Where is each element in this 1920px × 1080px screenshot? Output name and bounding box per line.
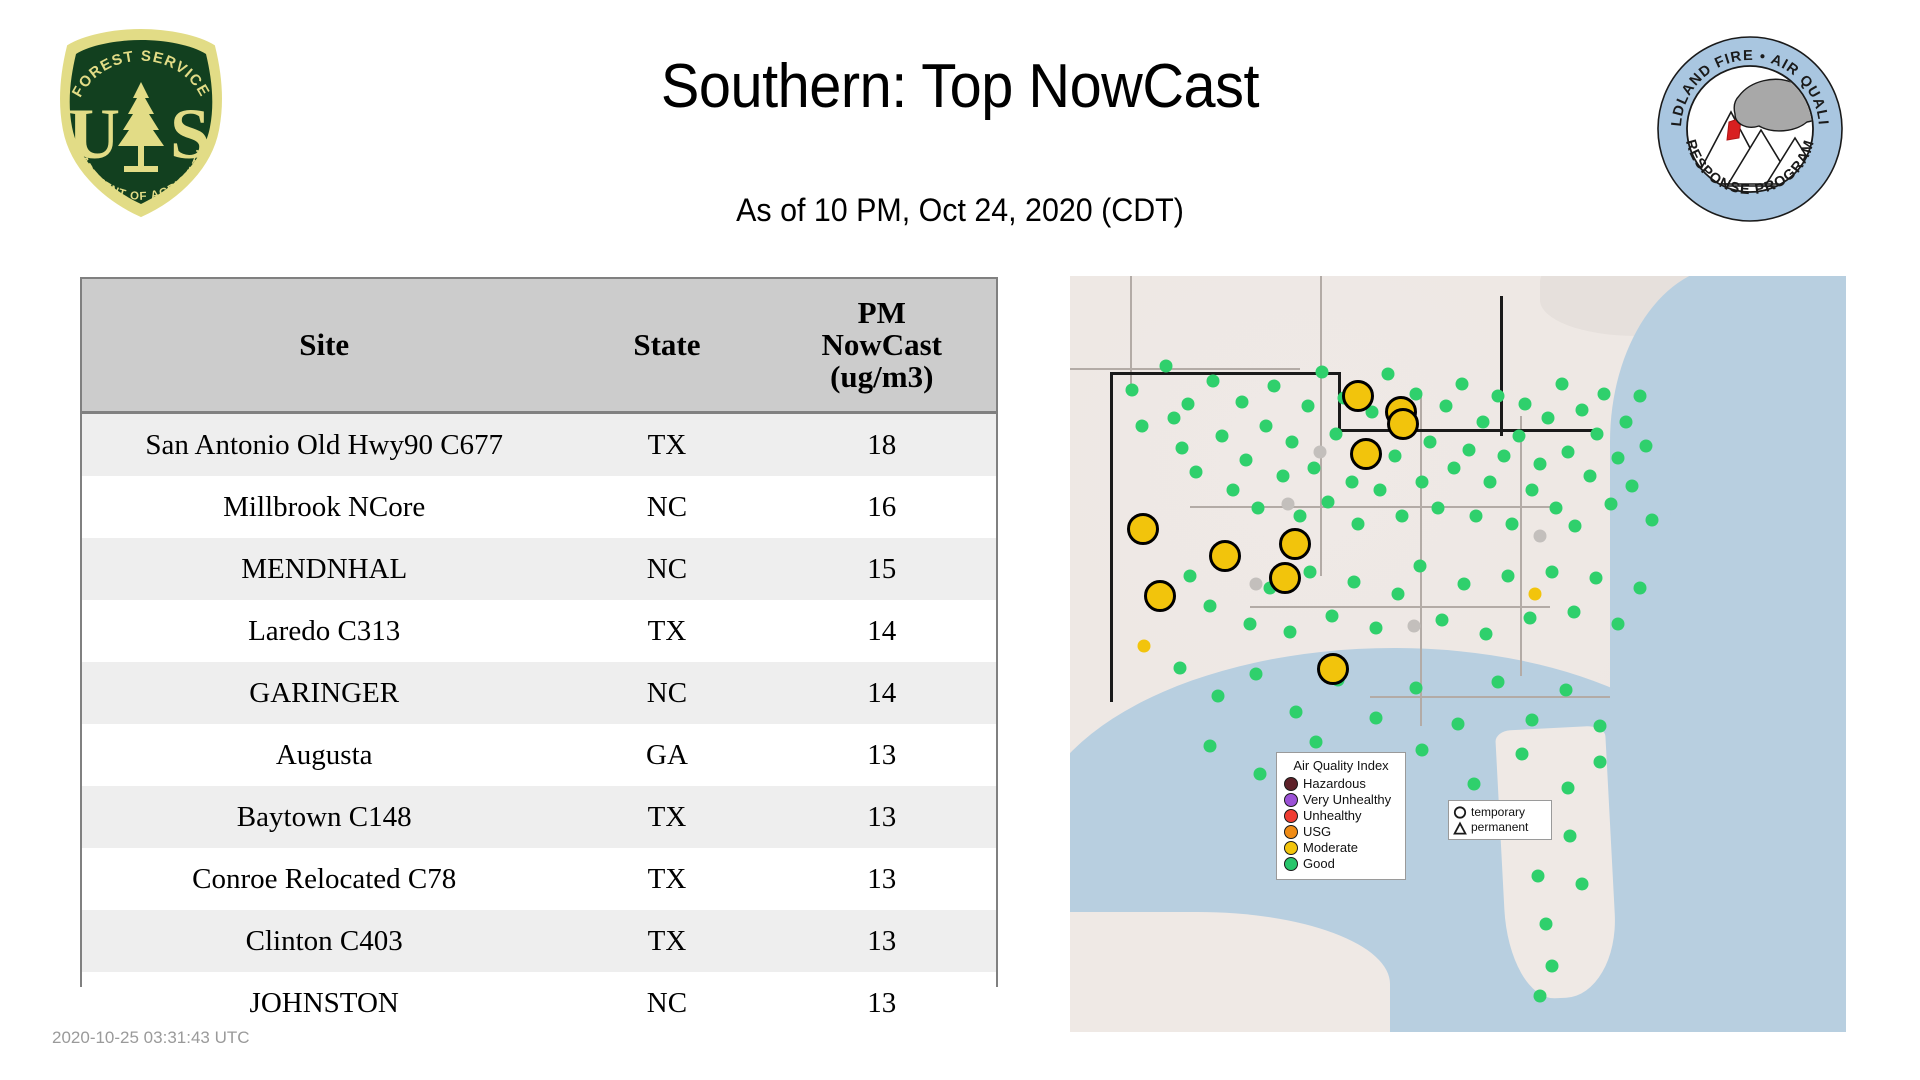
map-marker-good[interactable]: [1556, 378, 1569, 391]
map-state-border: [1070, 368, 1300, 370]
map-marker-moderate[interactable]: [1269, 562, 1301, 594]
aqi-legend-swatch-icon: [1284, 841, 1298, 855]
cell-value: 13: [767, 724, 996, 786]
map-marker-good[interactable]: [1640, 440, 1653, 453]
cell-site: Augusta: [82, 724, 566, 786]
map-marker-inactive[interactable]: [1282, 498, 1295, 511]
map-marker-good[interactable]: [1352, 518, 1365, 531]
map-marker-good[interactable]: [1302, 400, 1315, 413]
column-header-state: State: [566, 279, 767, 413]
cell-state: TX: [566, 600, 767, 662]
map-marker-good[interactable]: [1212, 690, 1225, 703]
map-marker-good[interactable]: [1396, 510, 1409, 523]
slide-root: FOREST SERVICE DEPARTMENT OF AGRICULTURE…: [0, 0, 1920, 1080]
aqi-legend-label: Moderate: [1303, 840, 1358, 855]
cell-state: NC: [566, 476, 767, 538]
map-state-border: [1320, 276, 1322, 576]
map-marker-good[interactable]: [1594, 756, 1607, 769]
aqi-legend: Air Quality Index HazardousVery Unhealth…: [1276, 752, 1406, 880]
aqi-map[interactable]: [1070, 276, 1846, 1032]
cell-site: MENDNHAL: [82, 538, 566, 600]
map-state-border: [1190, 506, 1550, 508]
table-row: MENDNHALNC15: [82, 538, 996, 600]
aqi-legend-item: Moderate: [1284, 840, 1398, 855]
map-marker-good[interactable]: [1598, 388, 1611, 401]
map-marker-good[interactable]: [1562, 446, 1575, 459]
map-marker-good[interactable]: [1277, 470, 1290, 483]
map-marker-good[interactable]: [1370, 712, 1383, 725]
map-marker-good[interactable]: [1382, 368, 1395, 381]
map-marker-good[interactable]: [1424, 436, 1437, 449]
map-marker-good[interactable]: [1569, 520, 1582, 533]
aqi-legend-label: Unhealthy: [1303, 808, 1362, 823]
map-marker-moderate[interactable]: [1279, 528, 1311, 560]
map-marker-inactive[interactable]: [1314, 446, 1327, 459]
map-marker-good[interactable]: [1492, 676, 1505, 689]
map-marker-good[interactable]: [1326, 610, 1339, 623]
map-marker-good[interactable]: [1286, 436, 1299, 449]
cell-site: JOHNSTON: [82, 972, 566, 1034]
map-marker-good[interactable]: [1136, 420, 1149, 433]
map-marker-good[interactable]: [1458, 578, 1471, 591]
table-header-row: Site State PM NowCast (ug/m3): [82, 279, 996, 413]
map-marker-moderate[interactable]: [1387, 408, 1419, 440]
map-marker-good[interactable]: [1260, 420, 1273, 433]
map-marker-inactive[interactable]: [1534, 530, 1547, 543]
map-marker-good[interactable]: [1240, 454, 1253, 467]
table-row: Clinton C403TX13: [82, 910, 996, 972]
aqi-legend-label: Hazardous: [1303, 776, 1366, 791]
map-marker-good[interactable]: [1448, 462, 1461, 475]
cell-value: 16: [767, 476, 996, 538]
map-marker-good[interactable]: [1184, 570, 1197, 583]
column-header-site: Site: [82, 279, 566, 413]
map-marker-good[interactable]: [1516, 748, 1529, 761]
map-marker-good[interactable]: [1330, 428, 1343, 441]
cell-site: Laredo C313: [82, 600, 566, 662]
table-row: San Antonio Old Hwy90 C677TX18: [82, 413, 996, 477]
map-marker-good[interactable]: [1160, 360, 1173, 373]
aqi-legend-item: USG: [1284, 824, 1398, 839]
cell-site: San Antonio Old Hwy90 C677: [82, 413, 566, 477]
map-marker-good[interactable]: [1227, 484, 1240, 497]
map-marker-good[interactable]: [1182, 398, 1195, 411]
map-marker-inactive[interactable]: [1408, 620, 1421, 633]
map-marker-good[interactable]: [1310, 736, 1323, 749]
map-marker-good[interactable]: [1498, 450, 1511, 463]
map-marker-good[interactable]: [1634, 390, 1647, 403]
map-marker-good[interactable]: [1174, 662, 1187, 675]
map-state-border: [1250, 606, 1550, 608]
column-header-pm-nowcast: PM NowCast (ug/m3): [767, 279, 996, 413]
map-marker-good[interactable]: [1534, 990, 1547, 1003]
map-marker-good[interactable]: [1216, 430, 1229, 443]
map-marker-good[interactable]: [1634, 582, 1647, 595]
map-marker-moderate[interactable]: [1127, 513, 1159, 545]
map-marker-good[interactable]: [1410, 388, 1423, 401]
aqi-legend-swatch-icon: [1284, 857, 1298, 871]
cell-state: NC: [566, 538, 767, 600]
map-region-border: [1110, 372, 1340, 375]
map-state-border: [1370, 696, 1610, 698]
cell-state: TX: [566, 848, 767, 910]
cell-value: 14: [767, 600, 996, 662]
cell-value: 13: [767, 972, 996, 1034]
map-marker-good[interactable]: [1506, 518, 1519, 531]
aqi-legend-swatch-icon: [1284, 793, 1298, 807]
map-marker-good[interactable]: [1576, 404, 1589, 417]
map-marker-good[interactable]: [1244, 618, 1257, 631]
page-title: Southern: Top NowCast: [67, 52, 1853, 122]
map-marker-good[interactable]: [1204, 740, 1217, 753]
map-marker-good[interactable]: [1534, 458, 1547, 471]
map-marker-good[interactable]: [1126, 384, 1139, 397]
map-marker-good[interactable]: [1308, 462, 1321, 475]
table-row: Baytown C148TX13: [82, 786, 996, 848]
map-marker-good[interactable]: [1374, 484, 1387, 497]
map-marker-moderate[interactable]: [1144, 580, 1176, 612]
cell-state: NC: [566, 972, 767, 1034]
map-marker-good[interactable]: [1436, 614, 1449, 627]
map-marker-good[interactable]: [1432, 502, 1445, 515]
map-marker-good[interactable]: [1532, 870, 1545, 883]
map-marker-good[interactable]: [1304, 566, 1317, 579]
map-region-border: [1500, 296, 1503, 436]
map-marker-good[interactable]: [1564, 830, 1577, 843]
map-marker-good[interactable]: [1519, 398, 1532, 411]
map-marker-good[interactable]: [1370, 622, 1383, 635]
map-marker-moderate[interactable]: [1529, 588, 1542, 601]
aqi-legend-label: USG: [1303, 824, 1331, 839]
map-marker-good[interactable]: [1207, 375, 1220, 388]
map-marker-good[interactable]: [1284, 626, 1297, 639]
map-marker-good[interactable]: [1468, 778, 1481, 791]
cell-value: 13: [767, 910, 996, 972]
map-marker-good[interactable]: [1346, 476, 1359, 489]
map-marker-good[interactable]: [1542, 412, 1555, 425]
site-type-legend: temporary permanent: [1448, 800, 1552, 840]
site-type-temporary-label: temporary: [1471, 805, 1528, 820]
map-marker-good[interactable]: [1268, 380, 1281, 393]
map-marker-good[interactable]: [1392, 588, 1405, 601]
triangle-icon: [1453, 821, 1467, 836]
table-row: JOHNSTONNC13: [82, 972, 996, 1034]
map-region-border: [1338, 429, 1598, 432]
map-marker-good[interactable]: [1584, 470, 1597, 483]
map-marker-good[interactable]: [1176, 442, 1189, 455]
map-marker-good[interactable]: [1562, 782, 1575, 795]
map-marker-moderate[interactable]: [1138, 640, 1151, 653]
map-marker-good[interactable]: [1484, 476, 1497, 489]
map-marker-good[interactable]: [1612, 452, 1625, 465]
map-marker-good[interactable]: [1560, 684, 1573, 697]
map-marker-moderate[interactable]: [1350, 438, 1382, 470]
map-marker-good[interactable]: [1294, 510, 1307, 523]
table-row: AugustaGA13: [82, 724, 996, 786]
map-marker-moderate[interactable]: [1342, 380, 1374, 412]
map-marker-good[interactable]: [1591, 428, 1604, 441]
map-marker-good[interactable]: [1646, 514, 1659, 527]
aqi-legend-swatch-icon: [1284, 809, 1298, 823]
aqi-legend-item: Unhealthy: [1284, 808, 1398, 823]
map-marker-good[interactable]: [1550, 502, 1563, 515]
aqi-legend-title: Air Quality Index: [1284, 758, 1398, 773]
map-marker-good[interactable]: [1414, 560, 1427, 573]
map-marker-good[interactable]: [1410, 682, 1423, 695]
map-marker-good[interactable]: [1250, 668, 1263, 681]
cell-state: GA: [566, 724, 767, 786]
map-marker-good[interactable]: [1477, 416, 1490, 429]
aqi-legend-item: Hazardous: [1284, 776, 1398, 791]
map-marker-moderate[interactable]: [1317, 653, 1349, 685]
cell-site: Millbrook NCore: [82, 476, 566, 538]
map-marker-good[interactable]: [1322, 496, 1335, 509]
map-marker-good[interactable]: [1526, 714, 1539, 727]
map-state-border: [1130, 276, 1132, 396]
map-marker-good[interactable]: [1290, 706, 1303, 719]
map-marker-good[interactable]: [1440, 400, 1453, 413]
map-marker-good[interactable]: [1620, 416, 1633, 429]
map-marker-good[interactable]: [1492, 390, 1505, 403]
map-state-border: [1520, 416, 1522, 676]
map-marker-good[interactable]: [1389, 450, 1402, 463]
aqi-legend-label: Very Unhealthy: [1303, 792, 1391, 807]
cell-site: GARINGER: [82, 662, 566, 724]
circle-icon: [1453, 805, 1467, 820]
aqi-legend-label: Good: [1303, 856, 1335, 871]
cell-site: Conroe Relocated C78: [82, 848, 566, 910]
map-marker-good[interactable]: [1348, 576, 1361, 589]
cell-value: 14: [767, 662, 996, 724]
cell-state: TX: [566, 910, 767, 972]
map-marker-good[interactable]: [1252, 502, 1265, 515]
map-marker-good[interactable]: [1526, 484, 1539, 497]
cell-state: NC: [566, 662, 767, 724]
page-subtitle: As of 10 PM, Oct 24, 2020 (CDT): [48, 190, 1872, 230]
map-marker-good[interactable]: [1524, 612, 1537, 625]
table-row: Millbrook NCoreNC16: [82, 476, 996, 538]
footer-timestamp: 2020-10-25 03:31:43 UTC: [52, 1028, 250, 1048]
cell-value: 13: [767, 786, 996, 848]
map-marker-good[interactable]: [1463, 444, 1476, 457]
site-type-permanent-label: permanent: [1471, 820, 1528, 835]
map-marker-good[interactable]: [1452, 718, 1465, 731]
cell-site: Clinton C403: [82, 910, 566, 972]
map-marker-good[interactable]: [1190, 466, 1203, 479]
aqi-legend-swatch-icon: [1284, 777, 1298, 791]
table-row: Conroe Relocated C78TX13: [82, 848, 996, 910]
map-region-border: [1110, 372, 1113, 702]
map-marker-good[interactable]: [1470, 510, 1483, 523]
aqi-legend-item: Good: [1284, 856, 1398, 871]
nowcast-table: Site State PM NowCast (ug/m3) San Antoni…: [80, 277, 998, 987]
map-marker-good[interactable]: [1576, 878, 1589, 891]
map-marker-good[interactable]: [1594, 720, 1607, 733]
cell-state: TX: [566, 413, 767, 477]
table-row: Laredo C313TX14: [82, 600, 996, 662]
map-marker-good[interactable]: [1546, 960, 1559, 973]
map-marker-good[interactable]: [1204, 600, 1217, 613]
map-marker-good[interactable]: [1605, 498, 1618, 511]
cell-value: 15: [767, 538, 996, 600]
aqi-legend-item: Very Unhealthy: [1284, 792, 1398, 807]
aqi-legend-swatch-icon: [1284, 825, 1298, 839]
map-marker-good[interactable]: [1546, 566, 1559, 579]
map-marker-good[interactable]: [1568, 606, 1581, 619]
map-marker-good[interactable]: [1612, 618, 1625, 631]
map-marker-moderate[interactable]: [1209, 540, 1241, 572]
map-marker-good[interactable]: [1456, 378, 1469, 391]
cell-value: 13: [767, 848, 996, 910]
map-marker-good[interactable]: [1236, 396, 1249, 409]
map-marker-good[interactable]: [1254, 768, 1267, 781]
map-marker-good[interactable]: [1590, 572, 1603, 585]
map-marker-good[interactable]: [1416, 476, 1429, 489]
map-marker-good[interactable]: [1480, 628, 1493, 641]
map-marker-good[interactable]: [1540, 918, 1553, 931]
map-marker-good[interactable]: [1626, 480, 1639, 493]
map-marker-inactive[interactable]: [1250, 578, 1263, 591]
map-marker-good[interactable]: [1168, 412, 1181, 425]
cell-value: 18: [767, 413, 996, 477]
cell-site: Baytown C148: [82, 786, 566, 848]
map-marker-good[interactable]: [1316, 366, 1329, 379]
map-marker-good[interactable]: [1513, 430, 1526, 443]
cell-state: TX: [566, 786, 767, 848]
map-marker-good[interactable]: [1416, 744, 1429, 757]
map-marker-good[interactable]: [1502, 570, 1515, 583]
table-row: GARINGERNC14: [82, 662, 996, 724]
